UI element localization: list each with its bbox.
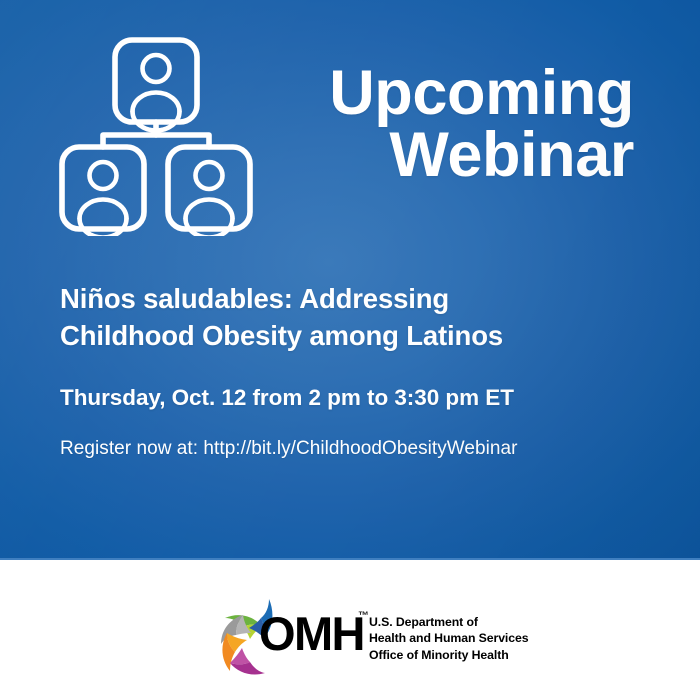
omh-tagline-line-3: Office of Minority Health: [369, 647, 528, 663]
footer-bar: OMH ™ U.S. Department of Health and Huma…: [0, 560, 700, 700]
webinar-announcement-poster: Upcoming Webinar Niños saludables: Addre…: [0, 0, 700, 700]
webinar-title: Niños saludables: Addressing Childhood O…: [60, 281, 644, 354]
webinar-title-line-2: Childhood Obesity among Latinos: [60, 318, 644, 355]
omh-tagline-line-1: U.S. Department of: [369, 614, 528, 630]
trademark-symbol: ™: [358, 611, 369, 622]
page-title: Upcoming Webinar: [214, 62, 634, 187]
webinar-datetime: Thursday, Oct. 12 from 2 pm to 3:30 pm E…: [60, 385, 644, 411]
registration-link[interactable]: Register now at: http://bit.ly/Childhood…: [60, 438, 644, 460]
headline-line-1: Upcoming: [214, 62, 634, 124]
webinar-details: Niños saludables: Addressing Childhood O…: [60, 281, 644, 460]
omh-wordmark: OMH: [259, 610, 364, 657]
omh-logo: OMH ™ U.S. Department of Health and Huma…: [219, 597, 487, 675]
webinar-title-line-1: Niños saludables: Addressing: [60, 281, 644, 318]
omh-tagline-line-2: Health and Human Services: [369, 630, 528, 646]
headline-line-2: Webinar: [214, 124, 634, 186]
hero-panel: Upcoming Webinar Niños saludables: Addre…: [0, 0, 700, 558]
omh-tagline: U.S. Department of Health and Human Serv…: [369, 614, 528, 663]
